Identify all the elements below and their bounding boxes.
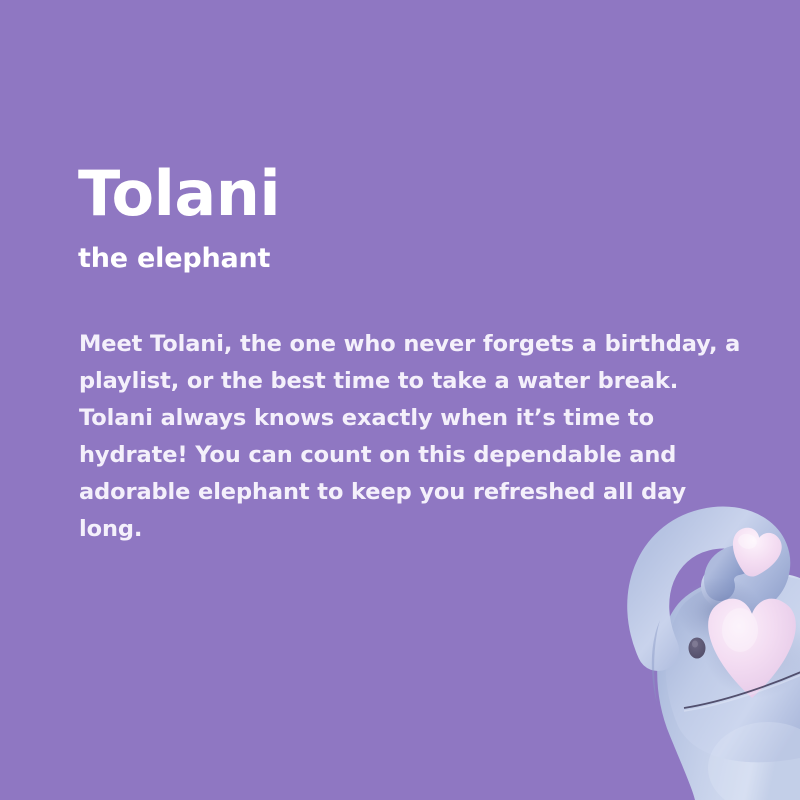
page-title: Tolani [78, 160, 758, 228]
eye [689, 638, 706, 659]
elephant-body [657, 573, 800, 800]
character-description: Meet Tolani, the one who never forgets a… [79, 326, 744, 548]
heart-ear [704, 599, 800, 698]
text-block: Tolani the elephant Meet Tolani, the one… [78, 160, 758, 548]
trunk-curl-shadow [678, 578, 762, 646]
page-subtitle: the elephant [78, 242, 758, 276]
seam-line [684, 668, 800, 711]
body-shading [648, 620, 800, 800]
character-profile-card: Tolani the elephant Meet Tolani, the one… [0, 0, 800, 800]
